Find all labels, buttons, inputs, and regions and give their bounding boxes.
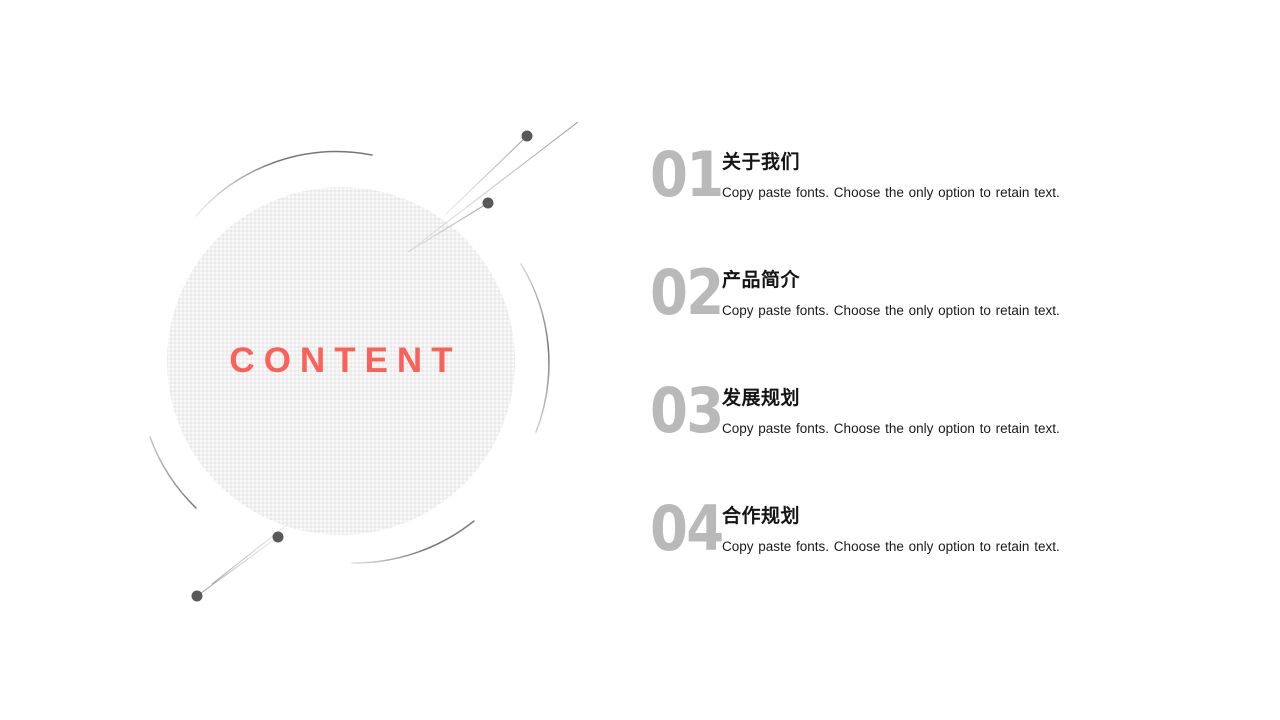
item-title-03: 发展规划 bbox=[722, 386, 1152, 410]
item-description-02: Copy paste fonts. Choose the only option… bbox=[722, 302, 1152, 320]
dot-top-outer bbox=[522, 131, 533, 142]
item-title-04: 合作规划 bbox=[722, 504, 1152, 528]
item-body-02: 产品简介 Copy paste fonts. Choose the only o… bbox=[722, 268, 1152, 320]
item-body-03: 发展规划 Copy paste fonts. Choose the only o… bbox=[722, 386, 1152, 438]
item-number-01: 01 bbox=[650, 144, 722, 206]
connector-line-bottom-inner bbox=[197, 537, 278, 596]
item-body-04: 合作规划 Copy paste fonts. Choose the only o… bbox=[722, 504, 1152, 556]
content-item-04[interactable]: 04 合作规划 Copy paste fonts. Choose the onl… bbox=[650, 494, 1170, 612]
dot-bottom-outer bbox=[192, 591, 203, 602]
item-description-04: Copy paste fonts. Choose the only option… bbox=[722, 538, 1152, 556]
item-title-01: 关于我们 bbox=[722, 150, 1152, 174]
content-circle-graphic: CONTENT bbox=[0, 0, 640, 720]
content-item-01[interactable]: 01 关于我们 Copy paste fonts. Choose the onl… bbox=[650, 140, 1170, 258]
slide-canvas: CONTENT 01 关于我们 Copy paste fonts. Choose… bbox=[0, 0, 1280, 720]
item-number-03: 03 bbox=[650, 380, 722, 442]
item-number-04: 04 bbox=[650, 498, 722, 560]
item-body-01: 关于我们 Copy paste fonts. Choose the only o… bbox=[722, 150, 1152, 202]
item-description-01: Copy paste fonts. Choose the only option… bbox=[722, 184, 1152, 202]
item-title-02: 产品简介 bbox=[722, 268, 1152, 292]
content-list: 01 关于我们 Copy paste fonts. Choose the onl… bbox=[650, 140, 1170, 612]
item-description-03: Copy paste fonts. Choose the only option… bbox=[722, 420, 1152, 438]
arc-right bbox=[521, 264, 549, 432]
content-circle-label: CONTENT bbox=[167, 187, 515, 535]
content-item-03[interactable]: 03 发展规划 Copy paste fonts. Choose the onl… bbox=[650, 376, 1170, 494]
item-number-02: 02 bbox=[650, 262, 722, 324]
content-item-02[interactable]: 02 产品简介 Copy paste fonts. Choose the onl… bbox=[650, 258, 1170, 376]
